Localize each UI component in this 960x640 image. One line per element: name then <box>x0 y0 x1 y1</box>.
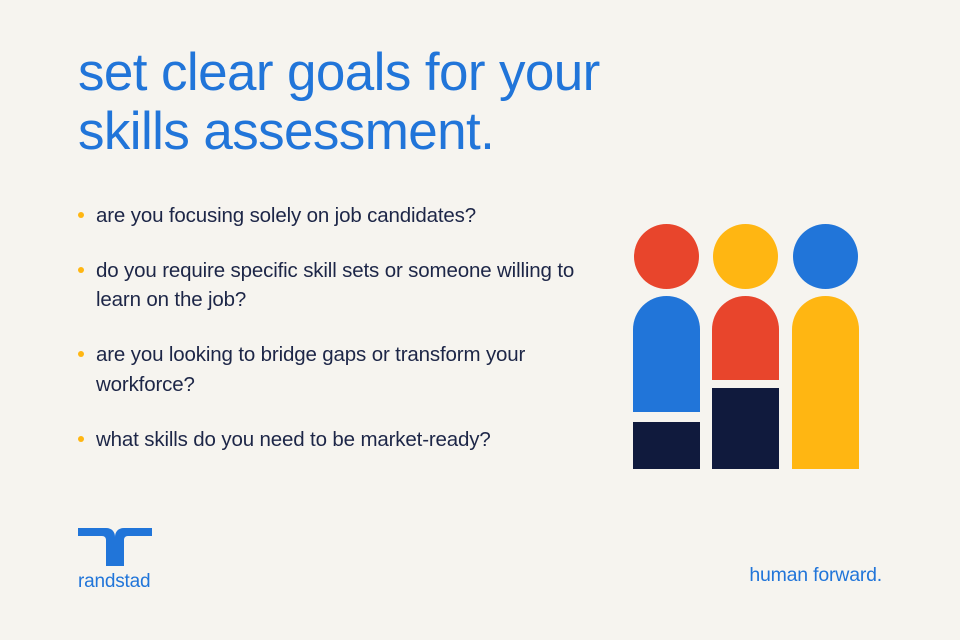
person-head-icon <box>713 224 778 289</box>
list-item: are you looking to bridge gaps or transf… <box>78 340 598 399</box>
page-title: set clear goals for your skills assessme… <box>78 43 678 162</box>
bullet-dot-icon <box>78 212 84 218</box>
headline-line-1: set clear goals for your <box>78 43 678 102</box>
list-item: are you focusing solely on job candidate… <box>78 201 598 231</box>
three-people-figures-graphic <box>633 224 859 469</box>
person-figure-2 <box>712 224 779 469</box>
brand-logo: randstad <box>78 528 152 591</box>
bullet-dot-icon <box>78 267 84 273</box>
person-body-shape <box>712 296 779 380</box>
list-item: do you require specific skill sets or so… <box>78 256 598 315</box>
person-body-shape <box>633 296 700 412</box>
bullet-dot-icon <box>78 351 84 357</box>
list-item-label: what skills do you need to be market-rea… <box>96 425 598 455</box>
list-item: what skills do you need to be market-rea… <box>78 425 598 455</box>
person-head-icon <box>793 224 858 289</box>
brand-tagline: human forward. <box>749 566 882 586</box>
slide-canvas: set clear goals for your skills assessme… <box>0 0 960 640</box>
list-item-label: do you require specific skill sets or so… <box>96 256 598 315</box>
headline-line-2: skills assessment. <box>78 102 678 161</box>
tulip-right-stroke <box>115 528 152 566</box>
person-head-icon <box>634 224 699 289</box>
randstad-tulip-icon <box>78 528 152 566</box>
person-figure-1 <box>633 224 700 469</box>
tulip-left-stroke <box>78 528 115 566</box>
person-base-shape <box>712 388 779 469</box>
person-figure-3 <box>792 224 859 469</box>
bullet-list: are you focusing solely on job candidate… <box>78 201 598 454</box>
list-item-label: are you focusing solely on job candidate… <box>96 201 598 231</box>
brand-wordmark: randstad <box>78 572 152 591</box>
person-body-shape <box>792 296 859 469</box>
bullet-dot-icon <box>78 436 84 442</box>
person-base-shape <box>633 422 700 469</box>
list-item-label: are you looking to bridge gaps or transf… <box>96 340 598 399</box>
